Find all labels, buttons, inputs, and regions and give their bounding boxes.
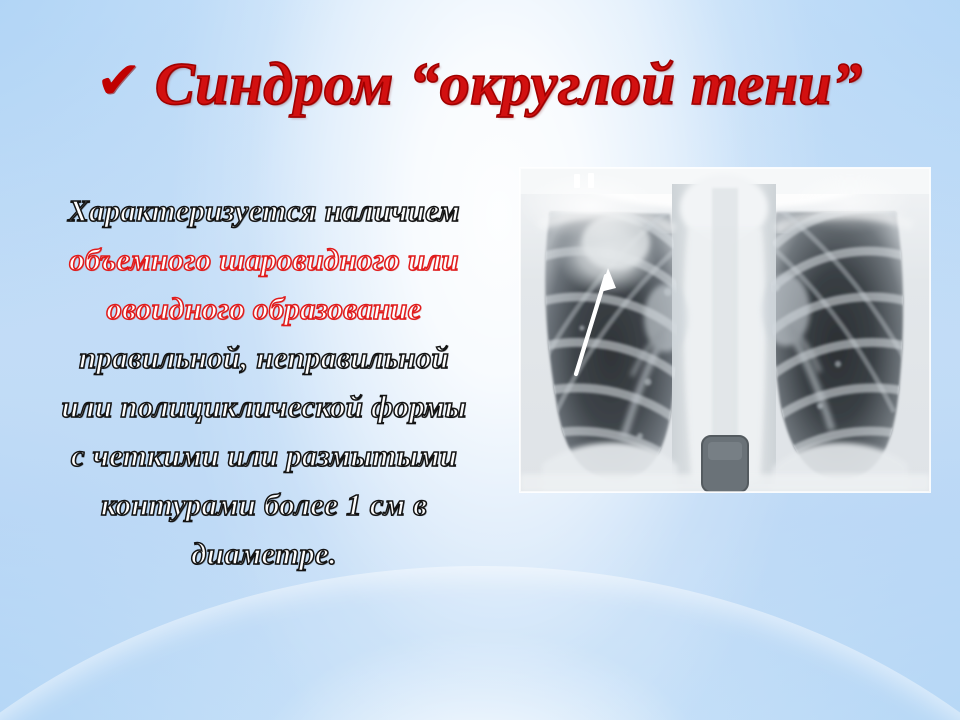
body-text-line: правильной, неправильной bbox=[18, 333, 510, 382]
body-text-line: с четкими или размытыми bbox=[18, 431, 510, 480]
page-title: Синдром “округлой тени” bbox=[155, 54, 863, 115]
checkmark-icon: ✔ bbox=[96, 55, 142, 107]
body-text-line: объемного шаровидного или bbox=[18, 235, 510, 284]
presentation-slide: ✔ Синдром “округлой тени” Характеризуетс… bbox=[0, 0, 960, 720]
chest-xray-image bbox=[520, 168, 930, 492]
body-text-line: контурами более 1 см в bbox=[18, 480, 510, 529]
body-text-line: Характеризуется наличием bbox=[18, 186, 510, 235]
slide-title-row: ✔ Синдром “округлой тени” bbox=[0, 54, 960, 115]
marker-highlight bbox=[708, 442, 742, 460]
body-text-line: или полициклической формы bbox=[18, 382, 510, 431]
chest-xray-graphic bbox=[520, 168, 930, 492]
body-text-line: овоидного образование bbox=[18, 284, 510, 333]
body-text-block: Характеризуется наличием объемного шаров… bbox=[18, 186, 510, 578]
body-text-line: диаметре. bbox=[18, 529, 510, 578]
